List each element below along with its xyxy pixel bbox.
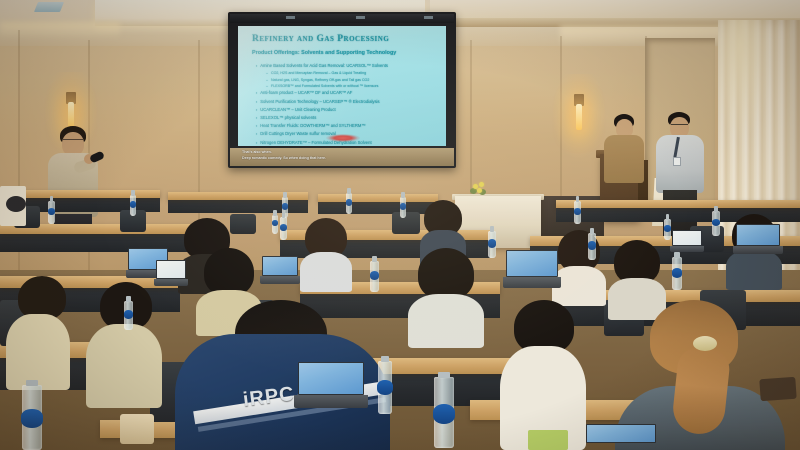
smartphone[interactable] bbox=[759, 377, 796, 401]
water-bottle[interactable] bbox=[272, 210, 278, 234]
torso bbox=[6, 314, 70, 390]
screen-valance bbox=[230, 14, 454, 23]
water-bottle[interactable] bbox=[434, 372, 454, 448]
bottle-label bbox=[282, 203, 288, 210]
caption-line-1: That's also when. bbox=[242, 150, 272, 154]
water-bottle[interactable] bbox=[130, 190, 136, 216]
laptop[interactable] bbox=[156, 260, 186, 286]
bottle-cap bbox=[131, 190, 134, 196]
laptop-screen bbox=[587, 425, 655, 442]
laptop-screen bbox=[737, 225, 779, 245]
laptop-base bbox=[294, 395, 368, 408]
slide-bullet: Solvent Purification Technology – UCARSE… bbox=[256, 98, 436, 106]
water-bottle[interactable] bbox=[346, 188, 352, 214]
laptop[interactable] bbox=[298, 362, 364, 408]
desk-top bbox=[556, 200, 800, 208]
laptop-screen bbox=[507, 251, 557, 276]
bottle-label bbox=[574, 208, 582, 215]
bottle-cap bbox=[283, 192, 286, 198]
bottle-cap bbox=[590, 228, 594, 234]
valance-marker bbox=[424, 16, 433, 19]
head bbox=[204, 248, 254, 296]
water-bottle[interactable] bbox=[22, 380, 42, 450]
bottle-label bbox=[280, 224, 288, 231]
name-badge bbox=[673, 157, 681, 166]
water-bottle[interactable] bbox=[370, 256, 379, 292]
projected-slide: Refinery and Gas Processing Product Offe… bbox=[238, 26, 446, 146]
bottle-cap bbox=[381, 356, 389, 362]
water-bottle[interactable] bbox=[48, 196, 55, 224]
bottle-label bbox=[21, 409, 43, 427]
presenter-standing bbox=[655, 112, 705, 242]
hair-scrunchie bbox=[693, 336, 717, 351]
glasses-icon bbox=[671, 124, 688, 128]
sconce-lamp-icon bbox=[576, 104, 582, 130]
laptop[interactable] bbox=[262, 256, 298, 284]
laptop-base bbox=[733, 246, 782, 254]
bottle-cap bbox=[438, 372, 449, 378]
torso bbox=[86, 324, 162, 408]
sconce-lamp-icon bbox=[68, 102, 74, 128]
bottle-label bbox=[124, 310, 134, 319]
bottle-cap bbox=[347, 188, 350, 194]
attendee bbox=[408, 248, 484, 344]
water-bottle[interactable] bbox=[280, 212, 287, 240]
bottle-cap bbox=[50, 196, 54, 202]
bottle-label bbox=[488, 239, 497, 247]
laptop-screen bbox=[299, 363, 363, 394]
bottle-cap bbox=[282, 212, 286, 218]
bottle-label bbox=[130, 201, 136, 208]
projection-screen-assembly: Refinery and Gas Processing Product Offe… bbox=[228, 12, 456, 168]
flower-bloom bbox=[477, 188, 482, 193]
slide-subtitle: Product Offerings: Solvents and Supporti… bbox=[252, 50, 396, 56]
laptop-lid bbox=[156, 260, 186, 279]
air-vent-icon bbox=[34, 2, 64, 12]
desk-panel bbox=[0, 232, 205, 252]
laptop[interactable] bbox=[736, 224, 780, 254]
slide-bullet: Anti-foam product – UCAR™ DF and UCAR™ A… bbox=[256, 89, 436, 97]
slide-bullet: UCARCLEAN™ – Unit Cleaning Product bbox=[256, 106, 436, 114]
bottle-cap bbox=[674, 252, 680, 258]
slide-title: Refinery and Gas Processing bbox=[252, 34, 389, 44]
attendee bbox=[0, 276, 70, 386]
bottle-cap bbox=[401, 192, 404, 198]
bottle-label bbox=[664, 225, 672, 232]
torso bbox=[726, 250, 782, 290]
laptop[interactable] bbox=[506, 250, 558, 288]
bottle-cap bbox=[273, 210, 276, 216]
green-notebook[interactable] bbox=[528, 430, 568, 450]
bottle-label bbox=[377, 380, 392, 395]
flower-arrangement bbox=[470, 182, 488, 196]
blazer bbox=[604, 135, 644, 183]
bottle-cap bbox=[490, 226, 494, 232]
slide-bullet: Amine Based Solvents for Acid Gas Remova… bbox=[256, 62, 436, 70]
valance-marker bbox=[286, 16, 295, 19]
laptop-screen bbox=[157, 261, 185, 278]
water-bottle[interactable] bbox=[124, 296, 133, 330]
bottle-cap bbox=[714, 206, 718, 212]
curtain-light-glow bbox=[718, 20, 774, 140]
slide-bullet: Heat Transfer Fluids: DOWTHERM™ and SYLT… bbox=[256, 122, 436, 130]
bottle-cap bbox=[666, 214, 670, 220]
head bbox=[418, 248, 474, 300]
chair bbox=[392, 212, 420, 234]
attendee bbox=[500, 300, 586, 450]
conference-room-photo: Refinery and Gas Processing Product Offe… bbox=[0, 0, 800, 450]
bottle-label bbox=[400, 203, 406, 210]
laptop-lid bbox=[506, 250, 558, 277]
attendee bbox=[300, 218, 352, 288]
laptop-screen bbox=[673, 231, 701, 245]
water-bottle[interactable] bbox=[488, 226, 496, 258]
laptop[interactable] bbox=[672, 230, 702, 252]
water-bottle[interactable] bbox=[588, 228, 596, 260]
water-bottle[interactable] bbox=[712, 206, 720, 236]
bottle-cap bbox=[126, 296, 131, 302]
paper-cup[interactable] bbox=[120, 414, 154, 444]
bottle-label bbox=[346, 199, 352, 206]
wall-sconce-right bbox=[571, 94, 587, 138]
water-bottle[interactable] bbox=[672, 252, 682, 290]
laptop-screen bbox=[263, 257, 297, 275]
bottle-label bbox=[672, 268, 683, 278]
bottle-label bbox=[433, 404, 455, 424]
water-bottle[interactable] bbox=[400, 192, 406, 218]
laptop-lid bbox=[736, 224, 780, 246]
attendee bbox=[552, 230, 606, 302]
bottle-label bbox=[588, 241, 597, 249]
slide-corporate-logo bbox=[326, 134, 360, 142]
valance-marker bbox=[356, 16, 365, 19]
bottle-label bbox=[48, 208, 56, 215]
water-bottle[interactable] bbox=[664, 214, 671, 240]
laptop-base bbox=[503, 277, 561, 288]
water-bottle[interactable] bbox=[378, 356, 392, 414]
laptop[interactable] bbox=[586, 424, 656, 450]
bottle-cap bbox=[372, 256, 377, 262]
caption-line-2: Deep romantic comedy. So when doing that… bbox=[242, 156, 326, 160]
slide-bullet: SELEXOL™ physical solvents bbox=[256, 114, 436, 122]
torso bbox=[408, 294, 484, 348]
laptop-lid bbox=[672, 230, 702, 246]
bottle-cap bbox=[26, 380, 37, 386]
flower-bloom bbox=[479, 182, 484, 187]
water-bottle[interactable] bbox=[574, 196, 581, 224]
laptop-base bbox=[154, 279, 188, 286]
ceiling-recess-right bbox=[430, 0, 800, 20]
laptop-lid bbox=[262, 256, 298, 276]
glasses-icon bbox=[63, 139, 83, 143]
laptop-base bbox=[260, 276, 300, 284]
torso bbox=[300, 252, 352, 292]
laptop-lid bbox=[298, 362, 364, 395]
speaker-device bbox=[6, 196, 26, 212]
bottle-cap bbox=[576, 196, 580, 202]
screen-lower-bezel: That's also when. Deep romantic comedy. … bbox=[230, 148, 454, 166]
wall-seam bbox=[470, 40, 472, 200]
laptop-lid bbox=[586, 424, 656, 443]
